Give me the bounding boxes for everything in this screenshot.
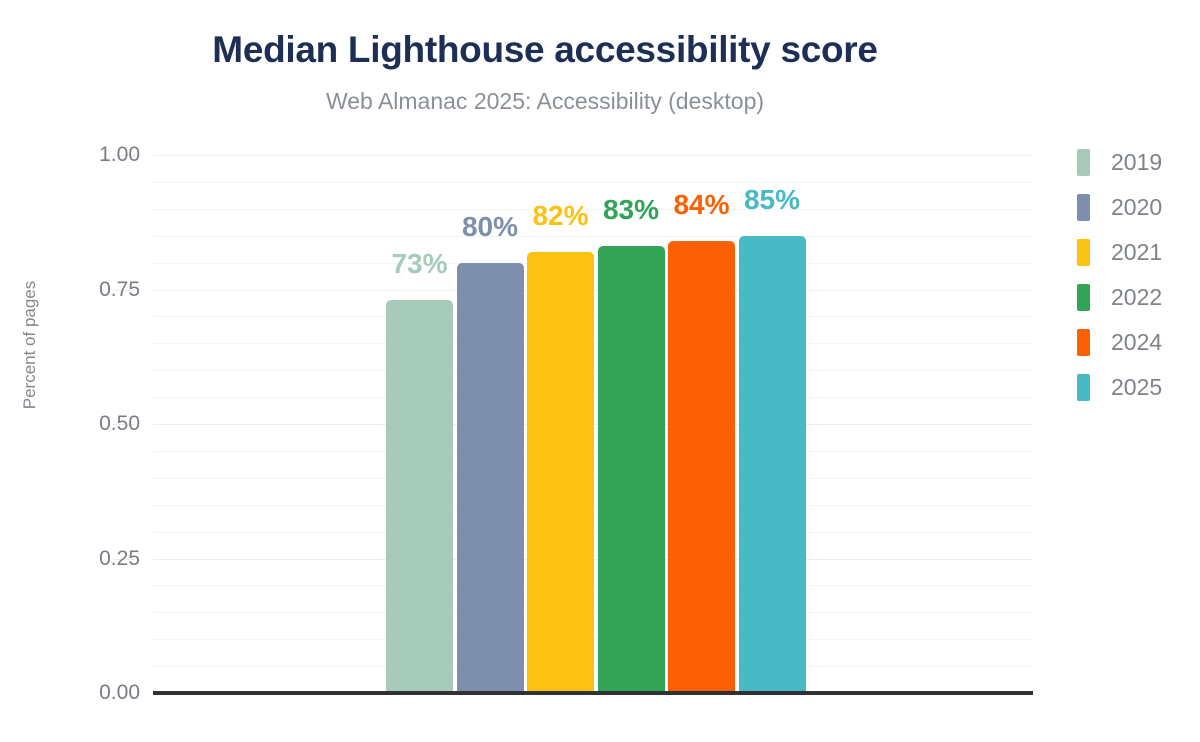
bar-value-label: 73%	[391, 248, 447, 280]
y-axis-tick-label: 0.25	[50, 547, 140, 571]
chart-subtitle: Web Almanac 2025: Accessibility (desktop…	[0, 88, 1090, 116]
bar[interactable]	[739, 236, 806, 693]
y-axis-tick-labels: 0.000.250.500.751.00	[30, 155, 140, 693]
chart-container: Median Lighthouse accessibility score We…	[0, 0, 1200, 742]
legend-item[interactable]: 2021	[1082, 230, 1200, 275]
legend-label: 2021	[1111, 239, 1162, 266]
legend-swatch-icon	[1077, 374, 1090, 401]
x-axis-line	[153, 691, 1033, 695]
bar[interactable]	[598, 246, 665, 693]
bar[interactable]	[668, 241, 735, 693]
legend-item[interactable]: 2022	[1082, 275, 1200, 320]
legend-label: 2020	[1111, 194, 1162, 221]
bar-value-label: 83%	[603, 194, 659, 226]
y-axis-tick-label: 0.00	[50, 681, 140, 705]
bar-series: 73%80%82%83%84%85%	[153, 155, 1033, 693]
legend-swatch-icon	[1077, 149, 1090, 176]
legend-swatch-icon	[1077, 329, 1090, 356]
bar-value-label: 85%	[744, 184, 800, 216]
bar[interactable]	[457, 263, 524, 693]
y-axis-tick-label: 1.00	[50, 143, 140, 167]
legend-item[interactable]: 2025	[1082, 365, 1200, 410]
legend-swatch-icon	[1077, 239, 1090, 266]
bar-value-label: 82%	[532, 200, 588, 232]
bar[interactable]	[527, 252, 594, 693]
legend-item[interactable]: 2024	[1082, 320, 1200, 365]
chart-title: Median Lighthouse accessibility score	[0, 30, 1090, 71]
legend-item[interactable]: 2019	[1082, 140, 1200, 185]
bar[interactable]	[386, 300, 453, 693]
legend-label: 2025	[1111, 374, 1162, 401]
legend-swatch-icon	[1077, 284, 1090, 311]
legend-label: 2019	[1111, 149, 1162, 176]
legend-item[interactable]: 2020	[1082, 185, 1200, 230]
legend-label: 2022	[1111, 284, 1162, 311]
bar-value-label: 84%	[673, 189, 729, 221]
y-axis-tick-label: 0.50	[50, 412, 140, 436]
y-axis-tick-label: 0.75	[50, 278, 140, 302]
legend-swatch-icon	[1077, 194, 1090, 221]
bar-value-label: 80%	[462, 211, 518, 243]
legend-label: 2024	[1111, 329, 1162, 356]
chart-legend: 201920202021202220242025	[1082, 140, 1200, 410]
